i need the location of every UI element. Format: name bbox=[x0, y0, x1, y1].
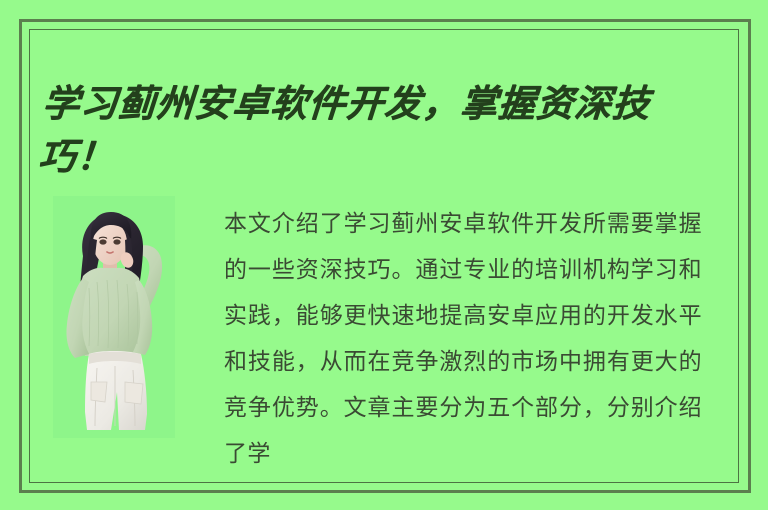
photo-sweater bbox=[79, 268, 143, 356]
photo-eye-right bbox=[113, 239, 120, 244]
poster-canvas: 学习蓟州安卓软件开发，掌握资深技巧！ bbox=[0, 0, 768, 510]
photo-eye-left bbox=[99, 239, 106, 244]
page-title: 学习蓟州安卓软件开发，掌握资深技巧！ bbox=[37, 77, 724, 182]
portrait-photo bbox=[53, 196, 175, 438]
photo-pocket-left bbox=[91, 382, 107, 402]
article-body-text: 本文介绍了学习蓟州安卓软件开发所需要掌握的一些资深技巧。通过专业的培训机构学习和… bbox=[224, 201, 702, 477]
photo-pocket-right bbox=[125, 382, 143, 404]
